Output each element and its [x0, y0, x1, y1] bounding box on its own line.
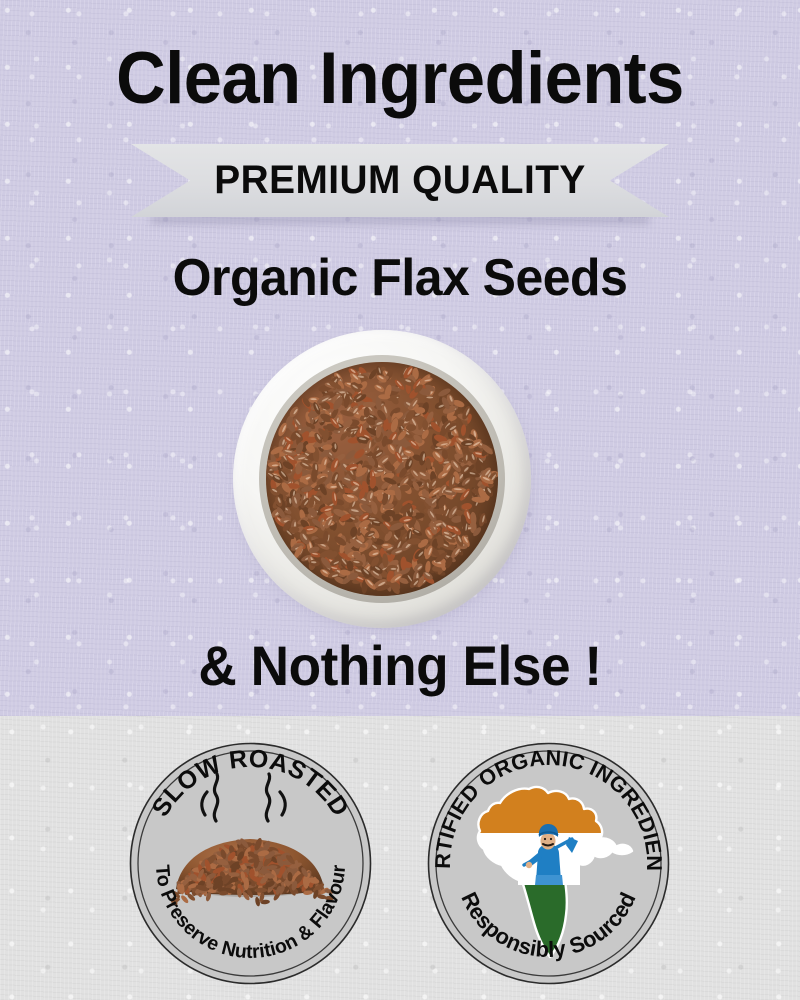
flax-seeds-fill	[266, 362, 498, 596]
premium-quality-ribbon: PREMIUM QUALITY	[131, 144, 669, 217]
tagline-heading: & Nothing Else !	[20, 633, 780, 699]
product-name-heading: Organic Flax Seeds	[16, 247, 784, 309]
product-marketing-poster: Clean Ingredients PREMIUM QUALITY Organi…	[0, 0, 800, 1000]
background-lower-gray-fabric	[0, 716, 800, 1000]
farmer-icon	[518, 824, 580, 885]
page-title: Clean Ingredients	[24, 38, 776, 120]
badge-certified-organic: CERTIFIED ORGANIC INGREDIENTS Responsibl…	[426, 741, 671, 986]
flax-seed-bowl-image	[233, 330, 531, 628]
ribbon-label: PREMIUM QUALITY	[139, 144, 661, 217]
badge-slow-roasted: SLOW ROASTED To Preserve Nutrition & Fla…	[128, 741, 373, 986]
